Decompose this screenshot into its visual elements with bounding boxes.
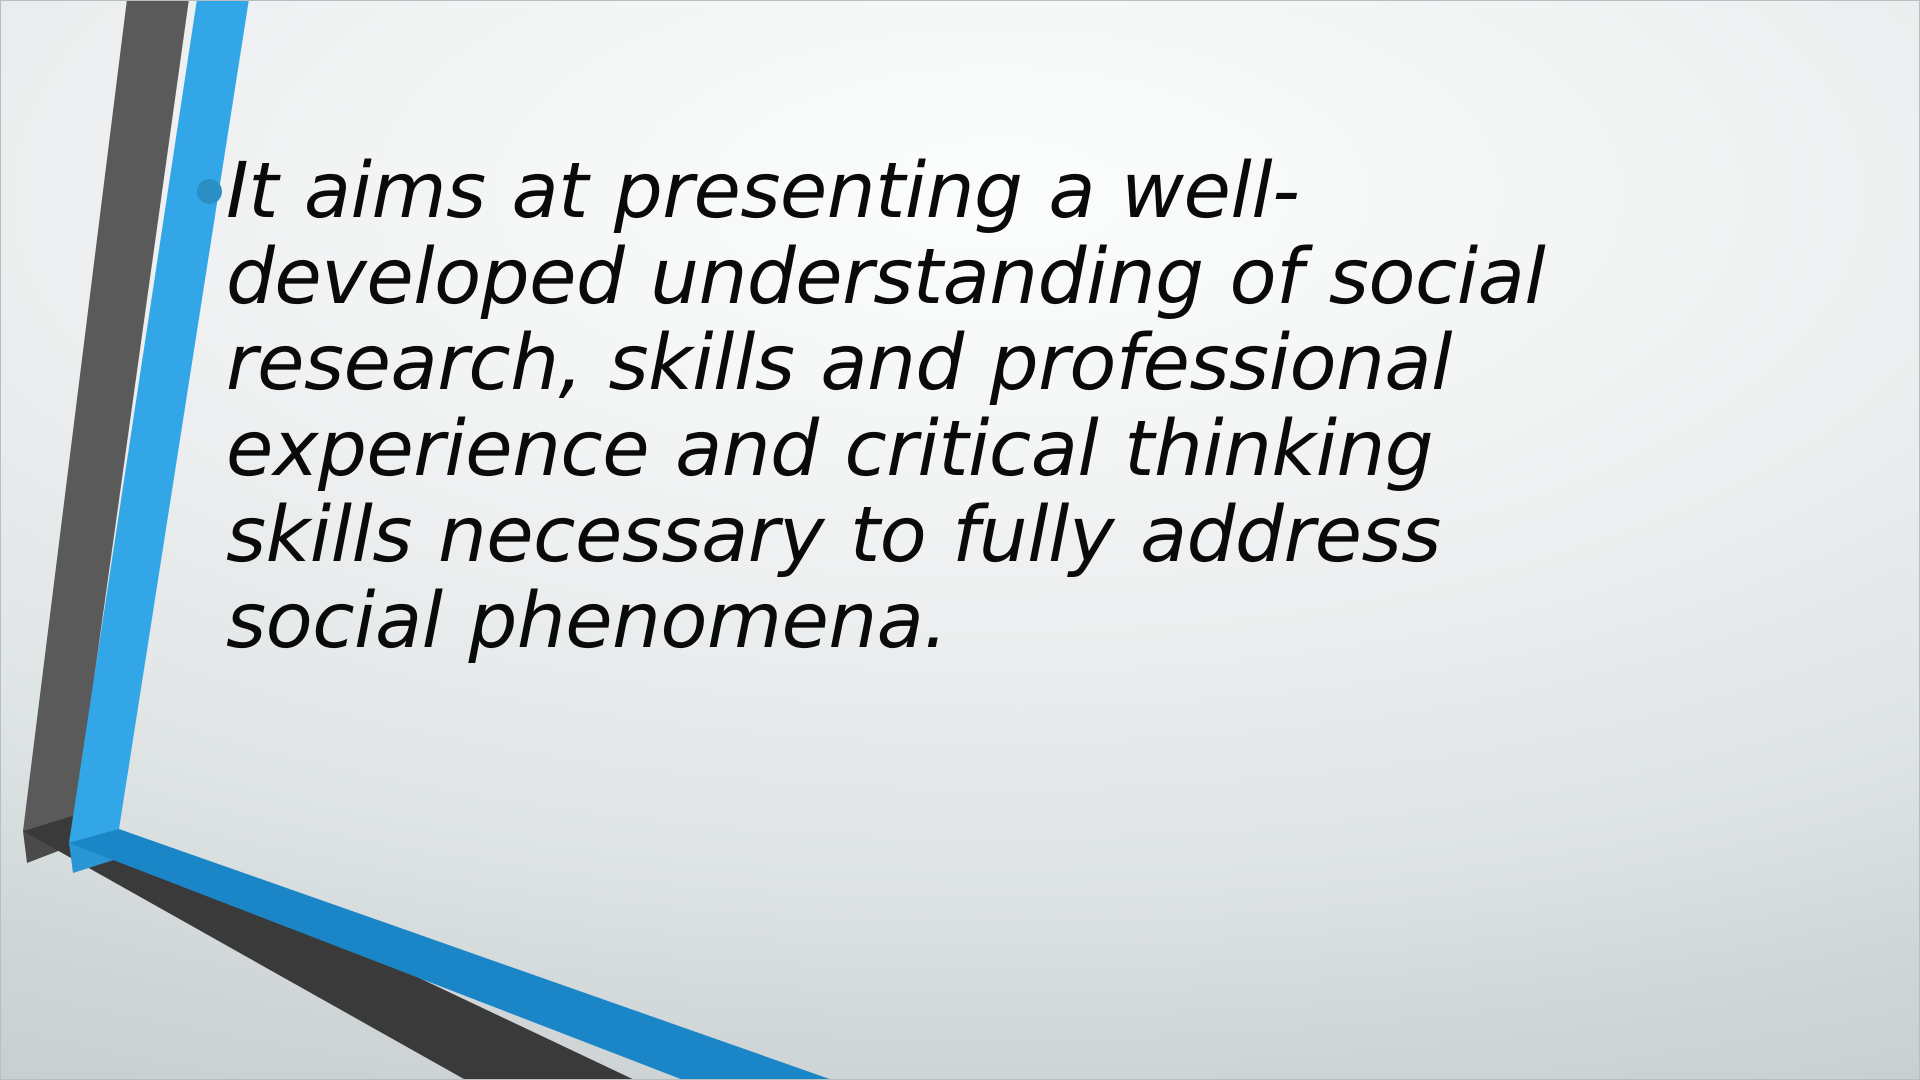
text-line-5: skills necessary to fully address [226, 493, 1545, 579]
text-line-1: It aims at presenting a well- [226, 149, 1545, 235]
text-line-6: social phenomena. [226, 579, 1545, 665]
presentation-slide: It aims at presenting a well- developed … [0, 0, 1920, 1080]
body-text-placeholder[interactable]: It aims at presenting a well- developed … [197, 149, 1487, 665]
text-line-3: research, skills and professional [226, 321, 1545, 407]
text-line-2: developed understanding of social [226, 235, 1545, 321]
bullet-list-item[interactable]: It aims at presenting a well- developed … [197, 149, 1487, 665]
chevron-blue-lower-segment [69, 829, 841, 1080]
text-line-4: experience and critical thinking [226, 407, 1545, 493]
bullet-item-text: It aims at presenting a well- developed … [226, 149, 1545, 665]
chevron-blue-upper-bevel [69, 829, 123, 873]
chevron-gray-lower-segment [23, 815, 641, 1080]
chevron-gray-upper-segment [23, 1, 189, 831]
chevron-gray-upper-bevel [23, 815, 79, 863]
bullet-dot-icon [197, 179, 222, 204]
